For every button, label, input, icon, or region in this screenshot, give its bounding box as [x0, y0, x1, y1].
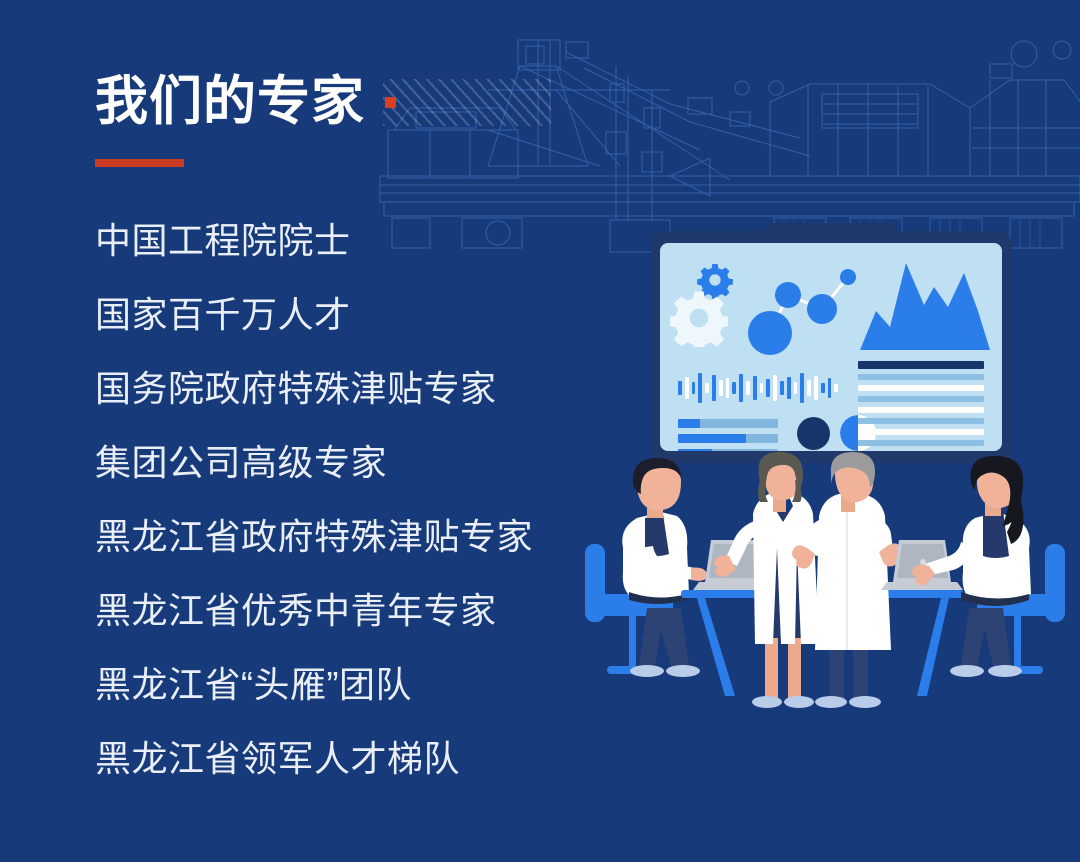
- mountain-area-chart: [860, 255, 990, 350]
- progress-bars: [678, 419, 778, 451]
- credential-list: 中国工程院院士 国家百千万人才 国务院政府特殊津贴专家 集团公司高级专家 黑龙江…: [95, 204, 635, 796]
- pie-slice: [840, 415, 858, 451]
- text-lines-block: [858, 361, 984, 451]
- hatch-pattern-block: [383, 79, 551, 126]
- list-item: 黑龙江省“头雁”团队: [95, 648, 635, 722]
- list-item: 黑龙江省领军人才梯队: [95, 722, 635, 796]
- waveform-bar-chart: [678, 367, 838, 409]
- analytics-dashboard-panel: [651, 231, 1011, 463]
- poster-canvas: 我们的专家 中国工程院院士 国家百千万人才 国务院政府特殊津贴专家 集团公司高级…: [0, 0, 1080, 862]
- team-of-four-specialists-illustration: [585, 452, 1065, 752]
- hatch-decoration: [383, 79, 551, 126]
- panel-screen: [660, 243, 1002, 451]
- progress-row: [678, 434, 778, 443]
- list-item: 国家百千万人才: [95, 278, 635, 352]
- red-square-marker-icon: [385, 97, 396, 108]
- progress-row: [678, 449, 778, 451]
- title-underline-rule: [95, 159, 184, 167]
- page-title: 我们的专家: [95, 70, 365, 134]
- dark-circle-chart: [797, 417, 830, 450]
- list-item: 集团公司高级专家: [95, 426, 635, 500]
- list-item: 黑龙江省政府特殊津贴专家: [95, 500, 635, 574]
- network-node-graph: [740, 255, 860, 365]
- list-item: 中国工程院院士: [95, 204, 635, 278]
- page-title-row: 我们的专家: [95, 70, 551, 134]
- gear-large-white-icon: [670, 289, 728, 347]
- list-item: 黑龙江省优秀中青年专家: [95, 574, 635, 648]
- progress-row: [678, 419, 778, 428]
- list-item: 国务院政府特殊津贴专家: [95, 352, 635, 426]
